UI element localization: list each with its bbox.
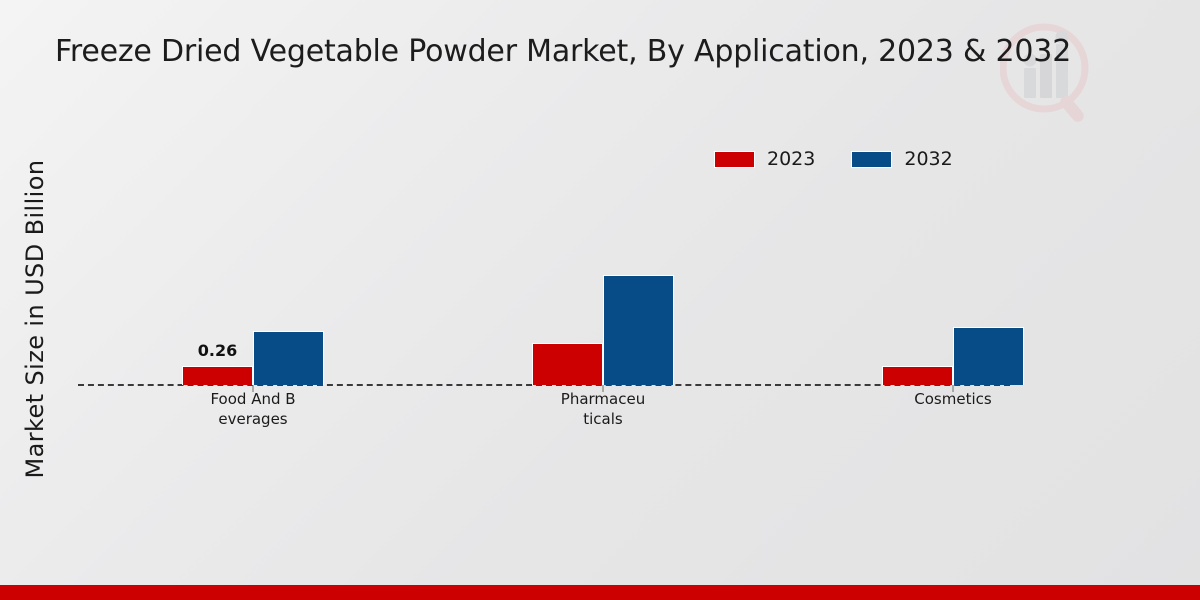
plot-area: 0.26 Food And Beverages Pharmaceuticals <box>78 170 1010 385</box>
chart-page: Freeze Dried Vegetable Powder Market, By… <box>0 0 1200 600</box>
bar-2032-cosmetics[interactable] <box>953 327 1024 385</box>
legend-swatch-2023 <box>714 151 755 168</box>
bar-group-food-and-beverages: 0.26 Food And Beverages <box>122 170 384 385</box>
legend-swatch-2032 <box>851 151 892 168</box>
chart-legend: 2023 2032 <box>714 148 953 170</box>
bar-2032-pharmaceuticals[interactable] <box>603 275 674 385</box>
footer-accent-bar <box>0 585 1200 600</box>
x-axis-category-label-2: Pharmaceuticals <box>558 389 648 429</box>
legend-label-2032: 2032 <box>904 148 952 170</box>
legend-item-2032[interactable]: 2032 <box>851 148 952 170</box>
bar-group-pharmaceuticals: Pharmaceuticals <box>472 170 734 385</box>
bar-2023-pharmaceuticals[interactable] <box>532 343 603 385</box>
bar-2023-food-and-beverages[interactable]: 0.26 <box>182 366 253 385</box>
x-axis-category-label-3: Cosmetics <box>908 389 998 409</box>
x-axis-category-label-1: Food And Beverages <box>208 389 298 429</box>
bar-2032-food-and-beverages[interactable] <box>253 331 324 385</box>
bar-group-cosmetics: Cosmetics <box>822 170 1084 385</box>
legend-label-2023: 2023 <box>767 148 815 170</box>
page-title: Freeze Dried Vegetable Powder Market, By… <box>55 34 1145 69</box>
bar-2023-cosmetics[interactable] <box>882 366 953 385</box>
bar-value-label: 0.26 <box>198 341 237 360</box>
y-axis-label: Market Size in USD Billion <box>21 139 49 499</box>
legend-item-2023[interactable]: 2023 <box>714 148 815 170</box>
